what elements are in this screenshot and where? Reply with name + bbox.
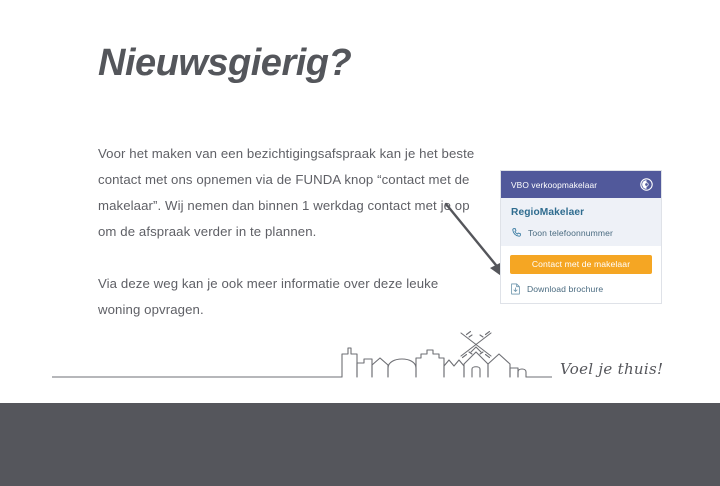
agent-contact-card: VBO verkoopmakelaar RegioMakelaer Toon t… (500, 170, 662, 304)
skyline-icon (52, 330, 552, 386)
paragraph-more-info: Via deze weg kan je ook meer informatie … (98, 271, 480, 323)
vbo-badge-icon (640, 178, 653, 191)
contact-agent-button[interactable]: Contact met de makelaar (510, 255, 652, 274)
footer-bar (0, 403, 720, 486)
download-brochure-label: Download brochure (527, 284, 603, 294)
show-phone-number-label: Toon telefoonnummer (528, 228, 613, 238)
card-header: VBO verkoopmakelaar (501, 171, 661, 198)
download-brochure-link[interactable]: Download brochure (510, 283, 652, 295)
agency-name: RegioMakelaer (511, 207, 651, 218)
paragraph-instructions: Voor het maken van een bezichtigingsafsp… (98, 141, 480, 245)
download-document-icon (510, 283, 521, 295)
skyline-illustration (52, 330, 552, 386)
show-phone-number-link[interactable]: Toon telefoonnummer (511, 227, 651, 238)
slide-canvas: Nieuwsgierig? Voor het maken van een bez… (0, 0, 720, 486)
body-copy: Voor het maken van een bezichtigingsafsp… (98, 141, 480, 323)
card-agency-section: RegioMakelaer Toon telefoonnummer (501, 198, 661, 246)
page-title: Nieuwsgierig? (98, 44, 351, 82)
card-header-title: VBO verkoopmakelaar (511, 180, 597, 190)
card-actions-section: Contact met de makelaar Download brochur… (501, 246, 661, 303)
phone-icon (511, 227, 522, 238)
tagline: Voel je thuis! (560, 360, 663, 378)
